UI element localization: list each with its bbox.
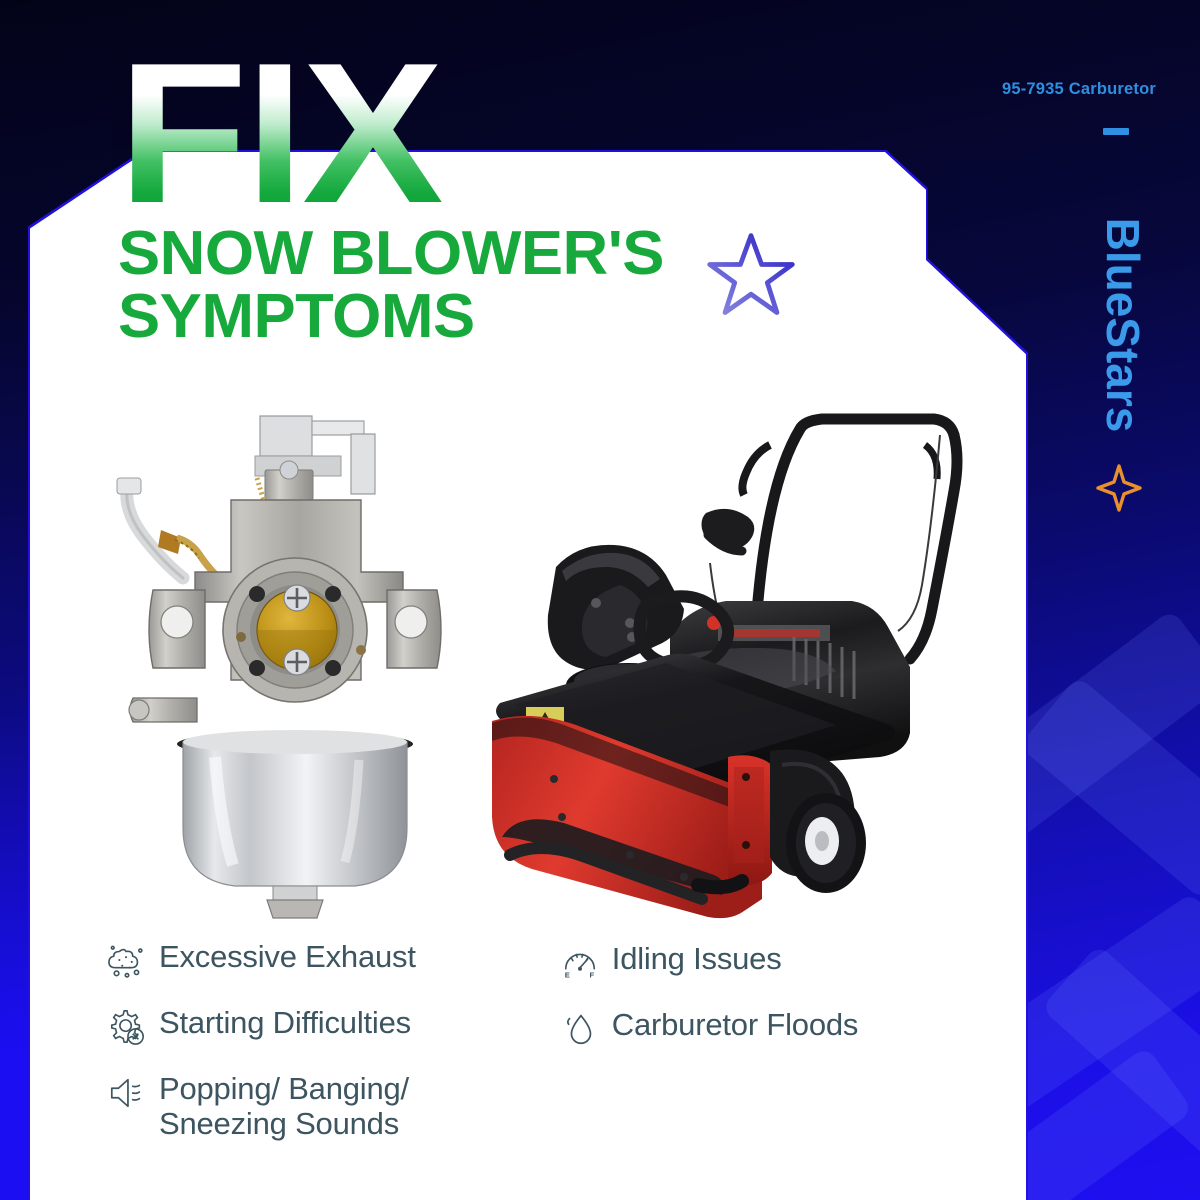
poster-canvas: FIX SNOW BLOWER'S SYMPTOMS [0,0,1200,1200]
list-item-label: Carburetor Floods [612,1008,858,1043]
snow-blower-photo [470,385,990,925]
gauge-label-full: F [589,970,594,979]
gauge-label-empty: E [565,970,570,979]
carburetor-photo [105,412,455,922]
list-item-label-line2: Sneezing Sounds [159,1106,399,1141]
bluestars-logo: BlueStars [1063,175,1183,475]
list-item-label: Popping/ Banging/Sneezing Sounds [159,1072,409,1141]
water-droplet-icon [561,1010,599,1048]
headline-line2: SNOW BLOWER'S [118,222,664,285]
headline-fix: FIX [118,52,685,216]
list-item: Excessive Exhaust [108,940,545,980]
list-item: Starting Difficulties [108,1006,545,1046]
symptoms-left-column: Excessive Exhaust Starting Difficulties [108,940,545,1141]
list-item: Popping/ Banging/Sneezing Sounds [108,1072,545,1141]
logo-word-blue: Blue [1097,218,1149,318]
list-item-label: Idling Issues [612,942,782,977]
headline-line3: SYMPTOMS [118,285,664,348]
smoke-cloud-icon [108,942,146,980]
fuel-gauge-icon: E F [561,944,599,982]
symptoms-list: Excessive Exhaust Starting Difficulties [108,940,938,1141]
symptoms-right-column: E F Idling Issues Carburetor Floods [561,940,938,1141]
list-item-label-line1: Popping/ Banging/ [159,1071,409,1106]
logo-word-stars: Stars [1097,317,1149,432]
star-accent-icon [703,228,799,324]
headline-group: FIX SNOW BLOWER'S SYMPTOMS [118,52,653,348]
speaker-noise-icon [108,1074,146,1112]
list-item: E F Idling Issues [561,942,938,982]
gear-error-icon [108,1008,146,1046]
list-item-label: Excessive Exhaust [159,940,416,975]
brand-sparkle-icon [1093,462,1145,514]
part-number-label: 95-7935 Carburetor [1002,80,1156,99]
list-item-label: Starting Difficulties [159,1006,411,1041]
brand-dash-icon [1103,128,1129,135]
list-item: Carburetor Floods [561,1008,938,1048]
bluestars-logo-text: BlueStars [1096,218,1150,433]
